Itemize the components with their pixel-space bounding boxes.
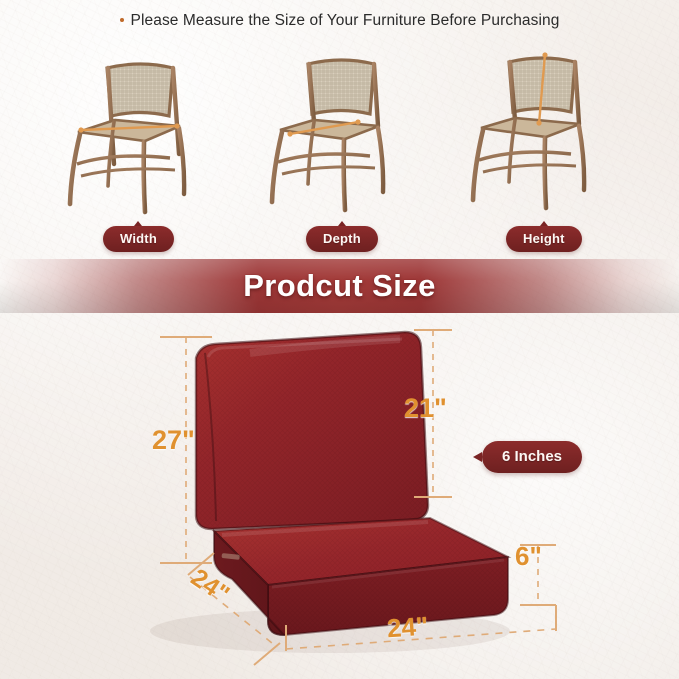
section-banner: Prodcut Size	[0, 259, 679, 313]
dimension-label-back-height: 27"	[152, 425, 195, 456]
callout-arrow-icon	[473, 452, 482, 462]
headline-text: Please Measure the Size of Your Furnitur…	[131, 12, 560, 29]
badge-height: Height	[506, 226, 582, 252]
chair-height-icon	[447, 46, 637, 231]
badge-tip-icon	[540, 221, 548, 226]
dimension-label-seat-width: 24"	[386, 611, 429, 645]
banner-title: Prodcut Size	[243, 268, 436, 304]
dimension-label-seat-thickness: 6"	[515, 541, 542, 572]
chair-width-icon	[45, 46, 235, 231]
chair-depth	[246, 46, 436, 231]
dimension-label-back-panel: 21"	[404, 393, 447, 424]
bullet-dot-icon	[120, 18, 124, 22]
callout-six-inches-label: 6 Inches	[502, 448, 562, 465]
chair-height	[447, 46, 637, 231]
product-size-infographic: Please Measure the Size of Your Furnitur…	[0, 0, 679, 679]
product-illustration	[0, 313, 679, 679]
chair-width	[45, 46, 235, 231]
badge-tip-icon	[338, 221, 346, 226]
badge-width: Width	[103, 226, 174, 252]
headline: Please Measure the Size of Your Furnitur…	[0, 12, 679, 30]
badge-depth: Depth	[306, 226, 378, 252]
chair-illustrations	[0, 46, 679, 231]
badge-height-label: Height	[523, 231, 565, 246]
callout-pointer-icon	[0, 313, 679, 679]
badge-depth-label: Depth	[323, 231, 361, 246]
badge-tip-icon	[134, 221, 142, 226]
chair-depth-icon	[246, 46, 436, 231]
badge-width-label: Width	[120, 231, 157, 246]
callout-six-inches: 6 Inches	[482, 441, 582, 473]
